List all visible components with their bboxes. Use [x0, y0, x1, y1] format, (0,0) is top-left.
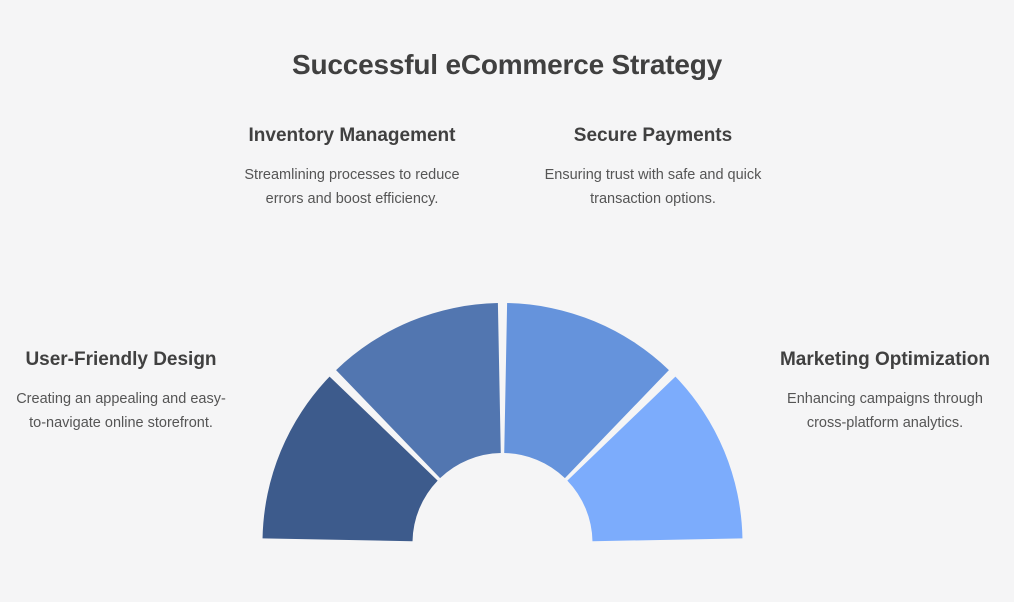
section-label-marketing-optimization: Marketing Optimization Enhancing campaig… [772, 345, 998, 435]
section-description: Streamlining processes to reduce errors … [232, 164, 472, 211]
section-label-user-friendly-design: User-Friendly Design Creating an appeali… [10, 345, 232, 435]
page-title: Successful eCommerce Strategy [0, 48, 1014, 82]
section-description: Creating an appealing and easy-to-naviga… [10, 388, 232, 435]
section-description: Enhancing campaigns through cross-platfo… [772, 388, 998, 435]
section-heading: Inventory Management [232, 121, 472, 150]
semicircle-donut-chart [255, 295, 750, 551]
section-heading: Marketing Optimization [772, 345, 998, 374]
section-label-secure-payments: Secure Payments Ensuring trust with safe… [533, 121, 773, 211]
section-heading: Secure Payments [533, 121, 773, 150]
gauge-svg [255, 295, 750, 551]
section-description: Ensuring trust with safe and quick trans… [533, 164, 773, 211]
section-heading: User-Friendly Design [10, 345, 232, 374]
section-label-inventory-management: Inventory Management Streamlining proces… [232, 121, 472, 211]
infographic-canvas: Successful eCommerce Strategy Inventory … [0, 0, 1014, 602]
